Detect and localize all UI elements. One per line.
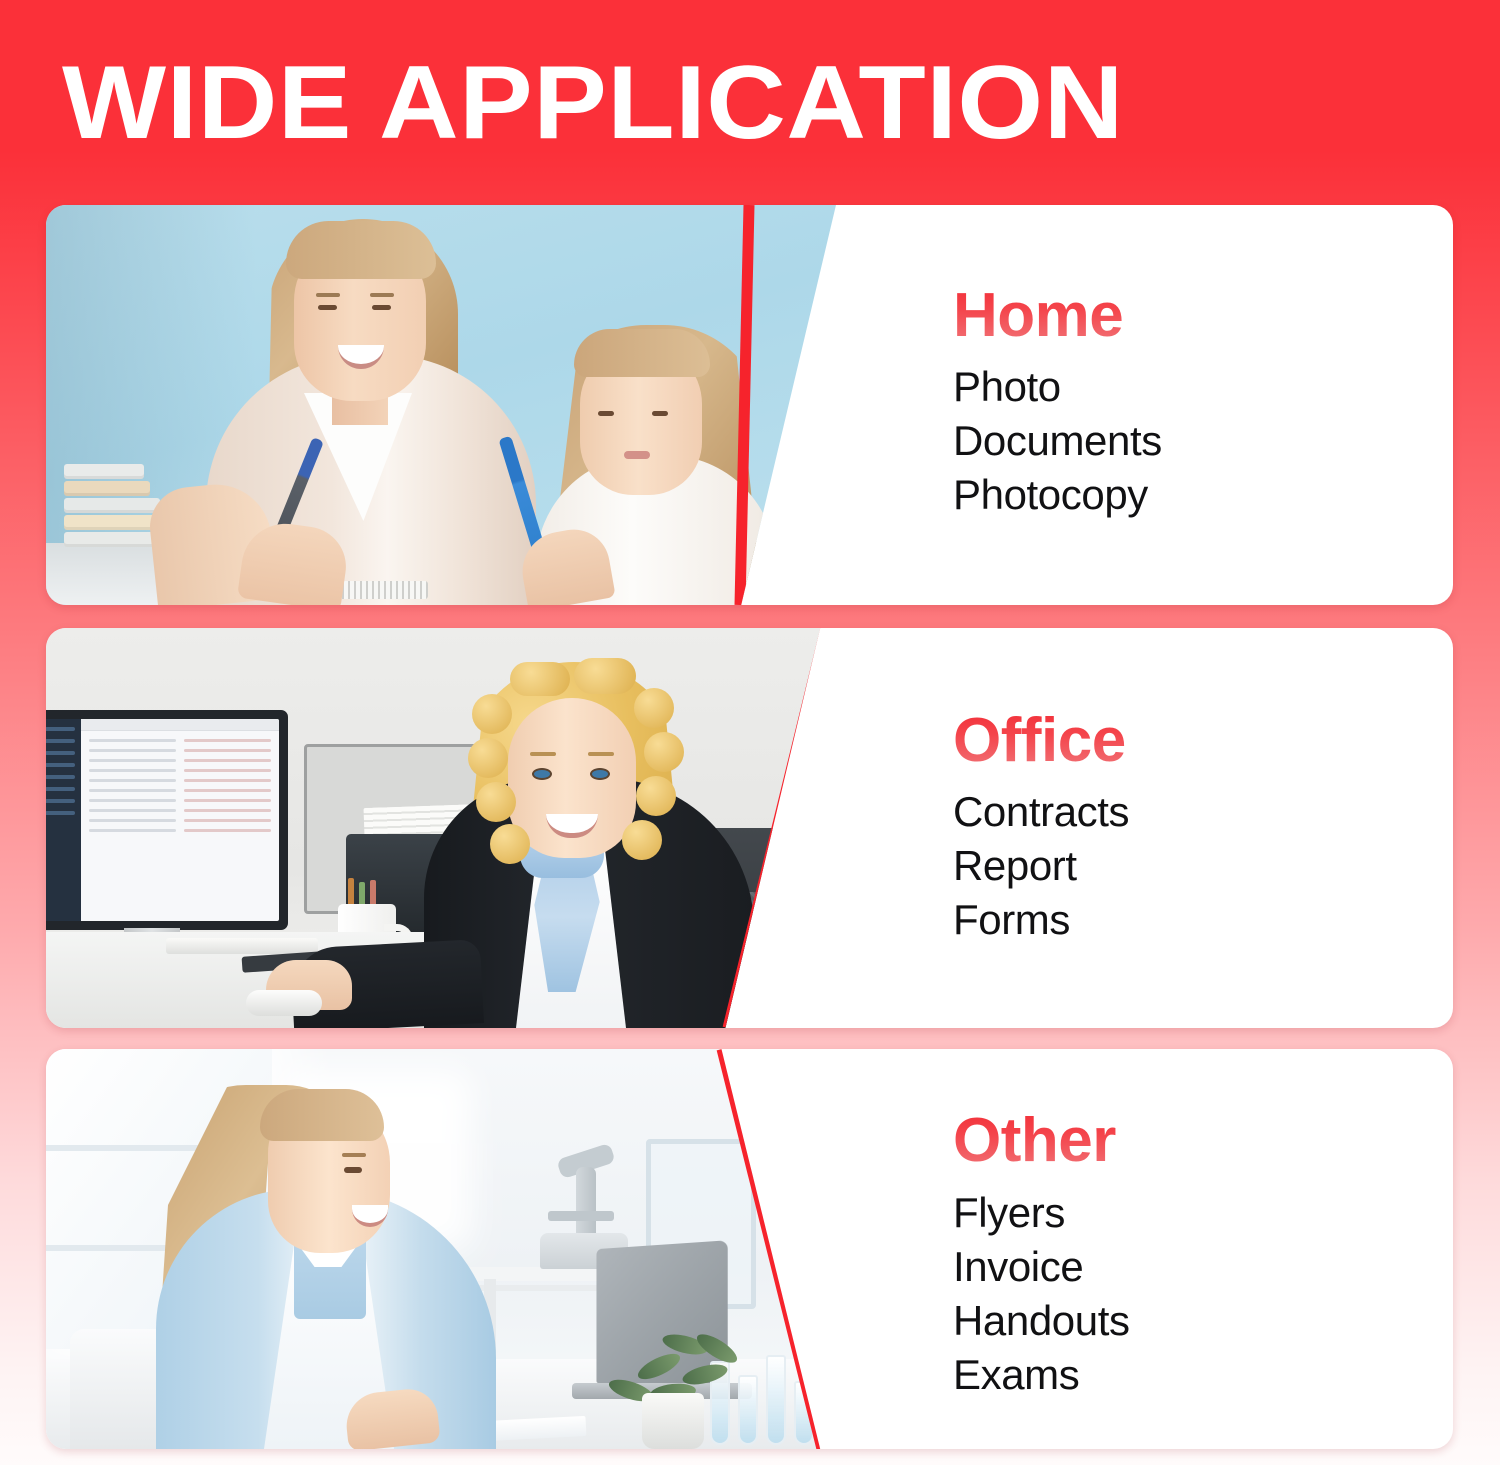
photo-other (46, 1049, 836, 1449)
woman-brow-left (530, 752, 556, 756)
mother-eye-right (372, 305, 391, 310)
child-eye-left (598, 411, 614, 416)
card-heading-office: Office (953, 709, 1126, 773)
application-card-other: Other Flyers Invoice Handouts Exams (46, 1049, 1453, 1449)
page-title: WIDE APPLICATION (62, 48, 1500, 158)
app-sidebar-mock (46, 719, 81, 921)
text-panel-office: Office Contracts Report Forms (893, 628, 1453, 1028)
child-eye-right (652, 411, 668, 416)
list-item: Exams (953, 1348, 1453, 1402)
card-heading-home: Home (953, 284, 1123, 348)
woman-eye-left (532, 768, 552, 780)
list-item: Photo (953, 360, 1453, 414)
computer-mouse (246, 990, 322, 1016)
plant-pot (642, 1393, 704, 1449)
list-item: Invoice (953, 1240, 1453, 1294)
woman-curly-hair-detail (466, 658, 682, 908)
lab-woman-brow (342, 1153, 366, 1157)
list-item: Contracts (953, 785, 1453, 839)
chair (70, 1329, 162, 1449)
mother-eye-left (318, 305, 337, 310)
lab-woman-eye (344, 1167, 362, 1173)
card-heading-other: Other (953, 1109, 1116, 1173)
woman-brow-right (588, 752, 614, 756)
woman-eye-right (590, 768, 610, 780)
lab-woman-fringe (260, 1089, 384, 1141)
keyboard (166, 938, 318, 954)
list-item: Documents (953, 414, 1453, 468)
photo-office (46, 628, 836, 1028)
scene-office-illustration (46, 628, 836, 1028)
list-item: Report (953, 839, 1453, 893)
photo-home (46, 205, 836, 605)
mother-brow-left (316, 293, 340, 297)
book-stack-icon (64, 455, 160, 547)
child-fringe (574, 329, 710, 377)
mother-brow-right (370, 293, 394, 297)
list-item: Photocopy (953, 468, 1453, 522)
wide-application-infographic: WIDE APPLICATION (0, 0, 1500, 1465)
text-panel-home: Home Photo Documents Photocopy (893, 205, 1453, 605)
item-list-other: Flyers Invoice Handouts Exams (953, 1186, 1453, 1403)
scene-home-illustration (46, 205, 836, 605)
item-list-office: Contracts Report Forms (953, 785, 1453, 948)
microscope-arm (576, 1167, 596, 1241)
application-card-office: Office Contracts Report Forms (46, 628, 1453, 1028)
microscope-stage (548, 1211, 614, 1221)
app-content-mock (81, 719, 279, 921)
list-item: Handouts (953, 1294, 1453, 1348)
monitor-screen (46, 719, 279, 921)
scene-lab-illustration (46, 1049, 836, 1449)
text-panel-other: Other Flyers Invoice Handouts Exams (893, 1049, 1453, 1449)
desktop-monitor (46, 710, 288, 930)
child-mouth (624, 451, 650, 459)
mother-fringe (286, 221, 436, 279)
list-item: Flyers (953, 1186, 1453, 1240)
text-column-left-mock (89, 739, 176, 839)
list-item: Forms (953, 893, 1453, 947)
item-list-home: Photo Documents Photocopy (953, 360, 1453, 523)
application-card-home: Home Photo Documents Photocopy (46, 205, 1453, 605)
text-column-right-mock (184, 739, 271, 839)
app-toolbar-mock (81, 719, 279, 731)
